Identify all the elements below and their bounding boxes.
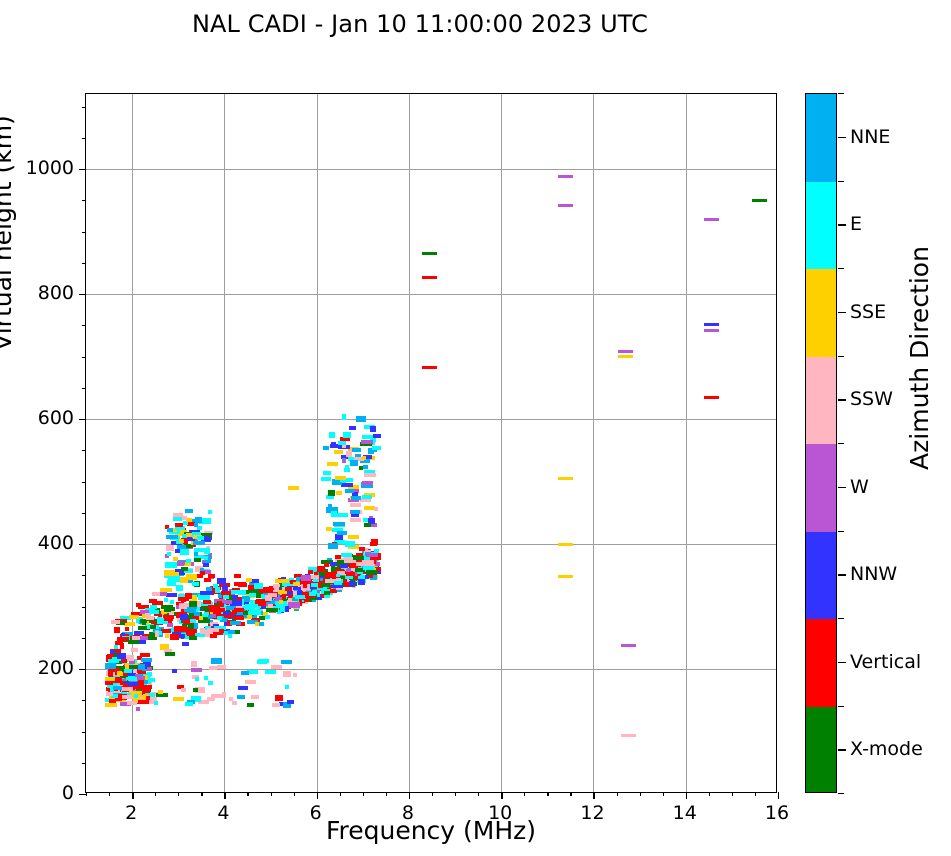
y-minor-tick [82, 325, 86, 326]
data-point [285, 685, 289, 689]
data-point [330, 562, 337, 566]
data-point [558, 175, 573, 178]
data-point [167, 552, 171, 556]
data-point [265, 595, 272, 601]
colorbar-boundary-tick [838, 181, 844, 182]
data-point [327, 462, 338, 466]
data-point [179, 539, 184, 543]
x-tick [317, 792, 318, 799]
data-point [362, 456, 366, 460]
data-point [348, 535, 359, 539]
data-point [238, 686, 248, 690]
y-minor-tick [82, 450, 86, 451]
data-point [217, 665, 226, 669]
data-point [271, 665, 282, 669]
data-point [618, 355, 633, 358]
data-point [281, 660, 292, 664]
data-point [147, 672, 152, 676]
y-minor-tick [82, 263, 86, 264]
x-minor-tick [547, 792, 548, 796]
data-point [422, 276, 437, 279]
x-tick [409, 792, 410, 799]
data-point [142, 689, 150, 693]
data-point [120, 643, 124, 649]
data-point [356, 416, 366, 422]
data-point [200, 571, 205, 575]
data-point [362, 560, 374, 566]
data-point [350, 460, 358, 466]
y-tick-label: 400 [2, 532, 74, 554]
plot-area [85, 93, 777, 793]
data-point [558, 543, 573, 546]
data-point [254, 583, 263, 589]
data-point [197, 536, 204, 540]
y-tick-label: 0 [2, 782, 74, 804]
data-point [249, 609, 261, 615]
colorbar-tick [838, 662, 846, 663]
data-point [207, 628, 219, 632]
colorbar-tick [838, 749, 846, 750]
data-point [345, 489, 354, 493]
data-point [204, 578, 211, 582]
data-point [175, 523, 183, 527]
data-point [164, 598, 168, 602]
data-point [122, 687, 133, 691]
y-minor-tick [82, 138, 86, 139]
data-point [173, 697, 184, 701]
data-point [362, 495, 372, 499]
x-minor-tick [709, 792, 710, 796]
data-point [138, 664, 145, 670]
data-point [182, 642, 189, 646]
data-point [150, 625, 156, 629]
data-point [288, 602, 300, 608]
data-point [208, 605, 220, 609]
data-point [621, 644, 636, 647]
x-minor-tick [617, 792, 618, 796]
data-point [160, 588, 172, 592]
data-point [321, 583, 330, 587]
data-point [309, 592, 316, 596]
x-minor-tick [478, 792, 479, 796]
data-point [349, 581, 355, 587]
data-point [285, 587, 292, 591]
data-point [170, 600, 174, 604]
data-point [359, 547, 365, 551]
data-point [192, 595, 197, 601]
data-point [230, 621, 241, 625]
data-point [275, 579, 285, 583]
data-point [313, 578, 319, 582]
data-point [203, 563, 209, 567]
x-minor-tick [294, 792, 295, 796]
data-point [293, 582, 300, 586]
data-point [194, 552, 198, 556]
data-point [106, 692, 113, 696]
data-point [301, 575, 311, 581]
data-point [329, 432, 335, 438]
x-tick [224, 792, 225, 799]
x-minor-tick [755, 792, 756, 796]
colorbar-segment-x-mode [806, 707, 836, 794]
y-minor-tick [82, 763, 86, 764]
data-point [161, 629, 171, 633]
data-point [208, 615, 212, 619]
colorbar-segment-nne [806, 94, 836, 182]
data-point [180, 614, 188, 620]
scatter-points [86, 94, 776, 792]
data-point [185, 702, 193, 706]
y-minor-tick [82, 700, 86, 701]
data-point [704, 323, 719, 326]
colorbar-tick [838, 224, 846, 225]
data-point [200, 591, 211, 595]
data-point [194, 523, 198, 527]
data-point [374, 507, 378, 511]
data-point [272, 703, 280, 707]
data-point [211, 658, 222, 664]
data-point [361, 440, 373, 444]
data-point [268, 604, 273, 608]
data-point [122, 695, 132, 699]
data-point [114, 627, 120, 633]
data-point [137, 676, 145, 680]
x-tick [778, 792, 779, 799]
data-point [165, 634, 169, 638]
data-point [365, 575, 369, 579]
data-point [558, 204, 573, 207]
data-point [155, 631, 159, 637]
colorbar [805, 93, 837, 793]
data-point [181, 567, 188, 571]
data-point [128, 682, 139, 686]
data-point [232, 610, 237, 614]
x-tick [132, 792, 133, 799]
data-point [168, 617, 172, 623]
data-point [364, 523, 371, 527]
x-minor-tick [201, 792, 202, 796]
colorbar-tick [838, 399, 846, 400]
data-point [333, 522, 345, 526]
data-point [222, 692, 226, 696]
x-minor-tick [109, 792, 110, 796]
data-point [208, 510, 212, 514]
x-tick [501, 792, 502, 799]
colorbar-segment-e [806, 182, 836, 270]
data-point [251, 695, 259, 699]
data-point [328, 490, 335, 496]
y-minor-tick [82, 482, 86, 483]
data-point [168, 577, 175, 581]
colorbar-boundary-tick [838, 268, 844, 269]
data-point [209, 666, 217, 670]
y-minor-tick [82, 232, 86, 233]
x-minor-tick [640, 792, 641, 796]
data-point [704, 396, 719, 399]
data-point [349, 426, 356, 430]
data-point [234, 574, 241, 578]
data-point [204, 676, 208, 680]
data-point [125, 627, 129, 631]
x-minor-tick [247, 792, 248, 796]
data-point [108, 672, 113, 676]
data-point [342, 459, 346, 463]
colorbar-boundary-tick [838, 443, 844, 444]
data-point [245, 680, 256, 684]
x-minor-tick [663, 792, 664, 796]
data-point [164, 570, 175, 576]
x-minor-tick [432, 792, 433, 796]
data-point [117, 672, 123, 676]
colorbar-segment-w [806, 444, 836, 532]
data-point [232, 595, 238, 599]
data-point [140, 653, 150, 657]
colorbar-title: Azimuth Direction [905, 78, 934, 638]
data-point [215, 587, 220, 593]
data-point [331, 511, 337, 517]
data-point [285, 606, 289, 612]
data-point [372, 446, 381, 450]
data-point [287, 700, 294, 704]
colorbar-label-e: E [850, 213, 862, 235]
data-point [189, 636, 197, 640]
x-minor-tick [178, 792, 179, 796]
y-tick-label: 200 [2, 657, 74, 679]
y-minor-tick [82, 732, 86, 733]
data-point [179, 634, 185, 638]
data-point [752, 199, 767, 202]
data-point [152, 592, 160, 596]
data-point [208, 681, 213, 685]
data-point [311, 575, 319, 579]
x-minor-tick [363, 792, 364, 796]
data-point [204, 548, 210, 554]
data-point [704, 329, 719, 332]
data-point [558, 575, 573, 578]
data-point [180, 549, 189, 555]
colorbar-label-vertical: Vertical [850, 651, 921, 673]
colorbar-segment-sse [806, 269, 836, 357]
data-point [142, 621, 146, 625]
colorbar-boundary-tick [838, 618, 844, 619]
data-point [117, 637, 129, 641]
data-point [232, 701, 237, 705]
data-point [191, 668, 202, 672]
x-minor-tick [524, 792, 525, 796]
data-point [131, 648, 138, 652]
data-point [371, 539, 378, 545]
data-point [618, 350, 633, 353]
data-point [181, 688, 186, 692]
data-point [166, 535, 178, 539]
data-point [323, 446, 329, 450]
data-point [362, 481, 373, 485]
data-point [204, 556, 208, 560]
data-point [223, 595, 229, 599]
data-point [293, 673, 297, 677]
y-minor-tick [82, 638, 86, 639]
data-point [275, 695, 283, 701]
y-axis-title: Virtual height (km) [0, 23, 17, 443]
data-point [111, 620, 120, 624]
y-minor-tick [82, 107, 86, 108]
y-tick [79, 544, 86, 545]
data-point [178, 597, 189, 601]
data-point [228, 630, 235, 634]
data-point [186, 574, 197, 580]
data-point [350, 518, 361, 522]
data-point [174, 626, 186, 632]
data-point [158, 690, 163, 694]
y-minor-tick [82, 607, 86, 608]
data-point [203, 600, 211, 604]
data-point [324, 591, 330, 595]
data-point [231, 590, 242, 594]
data-point [207, 697, 215, 701]
data-point [176, 585, 183, 591]
data-point [333, 584, 343, 588]
data-point [336, 491, 342, 495]
data-point [345, 541, 355, 547]
data-point [234, 616, 244, 620]
colorbar-label-nne: NNE [850, 126, 890, 148]
data-point [134, 631, 144, 635]
data-point [323, 471, 331, 475]
data-point [265, 670, 276, 674]
data-point [255, 622, 259, 626]
data-point [338, 441, 346, 445]
colorbar-boundary-tick [838, 793, 844, 794]
y-tick [79, 294, 86, 295]
data-point [121, 659, 127, 663]
data-point [173, 557, 178, 561]
x-minor-tick [386, 792, 387, 796]
colorbar-label-x-mode: X-mode [850, 738, 923, 760]
data-point [129, 615, 139, 619]
data-point [342, 414, 346, 420]
y-minor-tick [82, 388, 86, 389]
data-point [190, 619, 196, 623]
x-tick [686, 792, 687, 799]
data-point [139, 640, 146, 644]
data-point [422, 366, 437, 369]
data-point [165, 652, 175, 656]
data-point [145, 613, 151, 617]
colorbar-label-ssw: SSW [850, 388, 893, 410]
data-point [317, 566, 325, 572]
data-point [234, 582, 246, 586]
data-point [219, 629, 224, 633]
y-tick [79, 419, 86, 420]
data-point [366, 553, 378, 557]
data-point [621, 734, 636, 737]
y-minor-tick [82, 357, 86, 358]
data-point [178, 561, 185, 565]
colorbar-boundary-tick [838, 706, 844, 707]
data-point [105, 703, 117, 707]
data-point [105, 677, 115, 681]
data-point [257, 660, 267, 664]
y-minor-tick [82, 575, 86, 576]
colorbar-tick [838, 574, 846, 575]
colorbar-tick [838, 487, 846, 488]
data-point [265, 615, 270, 619]
colorbar-boundary-tick [838, 356, 844, 357]
data-point [146, 696, 150, 700]
x-minor-tick [732, 792, 733, 796]
data-point [194, 558, 201, 562]
data-point [149, 599, 157, 603]
data-point [246, 578, 252, 582]
x-minor-tick [86, 792, 87, 796]
data-point [352, 448, 361, 452]
data-point [149, 610, 159, 614]
data-point [363, 566, 374, 570]
colorbar-boundary-tick [838, 93, 844, 94]
data-point [136, 603, 141, 607]
data-point [258, 602, 266, 606]
data-point [185, 509, 193, 513]
data-point [187, 632, 195, 636]
data-point [105, 663, 116, 669]
x-minor-tick [155, 792, 156, 796]
x-minor-tick [340, 792, 341, 796]
data-point [127, 701, 137, 705]
data-point [351, 510, 360, 514]
data-point [266, 608, 278, 612]
colorbar-segment-vertical [806, 619, 836, 707]
data-point [351, 496, 361, 500]
data-point [217, 578, 226, 584]
colorbar-tick [838, 137, 846, 138]
data-point [364, 473, 376, 477]
y-minor-tick [82, 200, 86, 201]
colorbar-label-w: W [850, 476, 869, 498]
data-point [173, 517, 182, 521]
data-point [370, 426, 376, 432]
data-point [558, 477, 573, 480]
data-point [136, 707, 140, 711]
data-point [326, 527, 332, 531]
data-point [334, 581, 342, 585]
data-point [192, 582, 199, 586]
data-point [193, 541, 205, 545]
data-point [259, 616, 265, 620]
y-tick [79, 794, 86, 795]
data-point [334, 450, 343, 454]
y-tick [79, 169, 86, 170]
data-point [170, 634, 179, 640]
data-point [284, 579, 289, 583]
data-point [241, 671, 249, 675]
data-point [279, 600, 283, 604]
data-point [704, 218, 719, 221]
data-point [150, 605, 157, 609]
data-point [193, 688, 198, 692]
data-point [363, 465, 368, 469]
y-tick [79, 669, 86, 670]
x-tick [593, 792, 594, 799]
data-point [161, 605, 173, 609]
data-point [191, 661, 197, 667]
colorbar-label-nnw: NNW [850, 563, 897, 585]
data-point [211, 694, 222, 698]
x-minor-tick [570, 792, 571, 796]
data-point [138, 700, 149, 704]
data-point [187, 607, 196, 613]
data-point [186, 518, 192, 522]
data-point [125, 663, 129, 669]
